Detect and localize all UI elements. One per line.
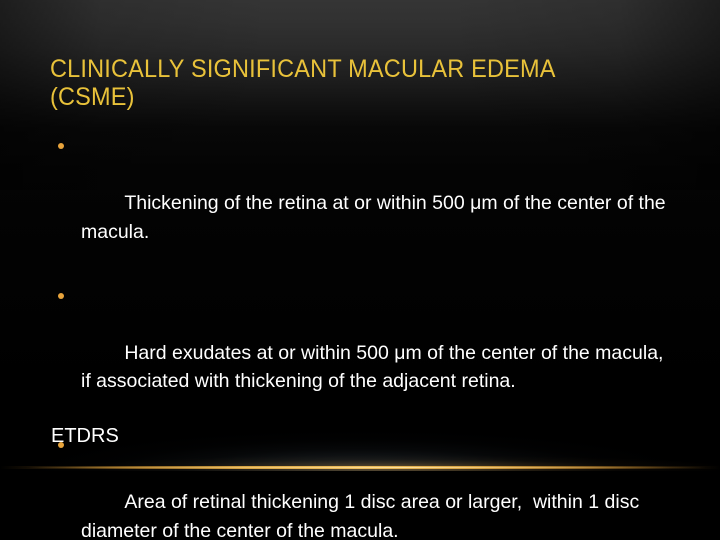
list-item: Hard exudates at or within 500 μm of the… (50, 282, 675, 425)
list-item-text: Area of retinal thickening 1 disc area o… (81, 491, 645, 540)
list-item: Thickening of the retina at or within 50… (50, 132, 675, 275)
slide-content: CLINICALLY SIGNIFICANT MACULAR EDEMA (CS… (0, 0, 720, 540)
list-item: Area of retinal thickening 1 disc area o… (50, 431, 675, 540)
bullet-dot-icon (58, 293, 64, 299)
slide-canvas: CLINICALLY SIGNIFICANT MACULAR EDEMA (CS… (0, 0, 720, 540)
list-item-text: Hard exudates at or within 500 μm of the… (81, 342, 669, 393)
slide-title: CLINICALLY SIGNIFICANT MACULAR EDEMA (CS… (50, 55, 633, 111)
source-attribution: ETDRS (51, 423, 119, 449)
bullet-dot-icon (58, 143, 64, 149)
list-item-text: Thickening of the retina at or within 50… (81, 192, 671, 243)
bullet-list: Thickening of the retina at or within 50… (50, 132, 675, 540)
